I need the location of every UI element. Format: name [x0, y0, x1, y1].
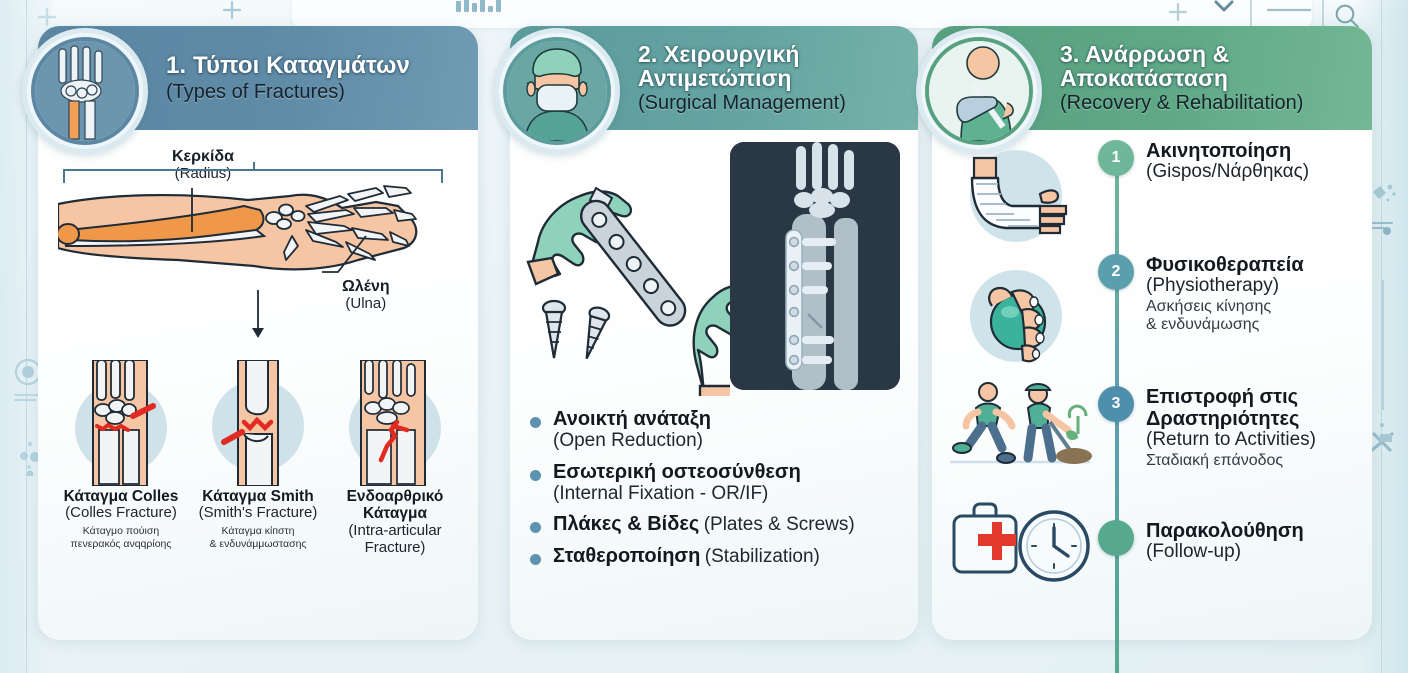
rail-divider — [1322, 0, 1324, 26]
wrist-plate-xray-icon — [730, 142, 900, 390]
step4-english: (Follow-up) — [1146, 542, 1358, 563]
gloved-hands-plate-screws-icon — [524, 146, 730, 396]
recovery-timeline: 1 Ακινητοποίηση (Gispos/Νάρθηκας) 2 Φυσι… — [1096, 134, 1358, 673]
bullet-internal-fixation: Εσωτερική οστεοσύνθεση (Internal Fixatio… — [530, 461, 904, 505]
rehab-icon-column — [946, 134, 1096, 673]
fracture-colles-english: (Colles Fracture) — [56, 505, 186, 522]
fracture-smith-note: Κάταγμα κίпστη & ενδυνάμμωστασης — [193, 525, 323, 550]
panel2-body: Ανοικτή ανάταξη (Open Reduction) Εσωτερι… — [510, 130, 918, 640]
panel1-title: 1. Τύποι Καταγμάτων — [166, 53, 410, 78]
timeline-step-3: 3 Επιστροφή στις Δραστηριότητες (Return … — [1096, 386, 1358, 470]
panel1-body: Κερκίδα (Radius) Ωλένη (Ulna) — [38, 130, 478, 640]
step2-english: (Physiotherapy) — [1146, 276, 1358, 297]
bar-chart-icon — [456, 0, 501, 12]
panel2-subtitle: (Surgical Management) — [638, 93, 846, 114]
forearm-anatomy-figure: Κερκίδα (Radius) Ωλένη (Ulna) — [52, 140, 464, 354]
bullet-dot-icon — [530, 554, 541, 565]
panel-surgical-management: 2. Χειρουργική Αντιμετώπιση (Surgical Ma… — [510, 26, 918, 640]
bullet-dot-icon — [530, 522, 541, 533]
panel2-header: 2. Χειρουργική Αντιμετώπιση (Surgical Ma… — [510, 26, 918, 130]
panel1-title-block: 1. Τύποι Καταγμάτων (Types of Fractures) — [166, 53, 410, 103]
panel2-title-line1: 2. Χειρουργική — [638, 42, 846, 66]
fracture-smith-greek: Κάταγμα Smith — [193, 488, 323, 505]
fracture-intra-articular: Ενδοαρθρικό Κάταγμα (Intra-articular Fra… — [330, 360, 460, 556]
infographic-board: 1. Τύποι Καταγμάτων (Types of Fractures) — [38, 26, 1372, 646]
timeline-step-1: 1 Ακινητοποίηση (Gispos/Νάρθηκας) — [1096, 140, 1358, 183]
plus-icon — [1386, 10, 1388, 12]
plus-icon — [36, 6, 58, 28]
panel-recovery-rehabilitation: 3. Ανάρρωση & Αποκατάσταση (Recovery & R… — [932, 26, 1372, 640]
fracture-colles: Κάταγμα Colles (Colles Fracture) Κάταγμο… — [56, 360, 186, 556]
first-aid-clock-icon — [946, 494, 1096, 612]
fracture-intra-english: (Intra-articular Fracture) — [330, 523, 460, 557]
arrow-down-to-types — [242, 290, 282, 352]
surgical-bullet-list: Ανοικτή ανάταξη (Open Reduction) Εσωτερι… — [524, 408, 904, 567]
step1-english: (Gispos/Νάρθηκας) — [1146, 162, 1358, 183]
timeline-node-1: 1 — [1098, 140, 1134, 176]
step3-note: Σταδιακή επάνοδος — [1146, 452, 1358, 470]
timeline-node-4 — [1098, 520, 1134, 556]
intra-articular-fracture-icon — [330, 360, 460, 488]
step1-greek: Ακινητοποίηση — [1146, 140, 1358, 162]
panel2-title-line2: Αντιμετώπιση — [638, 66, 846, 90]
leader-line-radius — [164, 188, 224, 234]
timeline-node-3: 3 — [1098, 386, 1134, 422]
panel3-subtitle: (Recovery & Rehabilitation) — [1060, 93, 1303, 114]
top-ambient-card — [292, 0, 1312, 28]
bullet-dot-icon — [530, 417, 541, 428]
bullet-open-reduction: Ανοικτή ανάταξη (Open Reduction) — [530, 408, 904, 452]
timeline-step-4: Παρακολούθηση (Follow-up) — [1096, 520, 1358, 563]
step4-greek: Παρακολούθηση — [1146, 520, 1358, 542]
step2-note: Ασκήσεις κίνησης & ενδυνάμωσης — [1146, 298, 1358, 334]
plus-icon — [222, 0, 242, 20]
panel3-title-line1: 3. Ανάρρωση & — [1060, 42, 1303, 66]
panel1-header: 1. Τύποι Καταγμάτων (Types of Fractures) — [38, 26, 478, 130]
panel2-title-block: 2. Χειρουργική Αντιμετώπιση (Surgical Ma… — [638, 42, 846, 115]
rail-divider-right — [1381, 0, 1382, 673]
timeline-node-2: 2 — [1098, 254, 1134, 290]
surgical-illustration — [524, 140, 904, 398]
panel3-header: 3. Ανάρρωση & Αποκατάσταση (Recovery & R… — [932, 26, 1372, 130]
fracture-intra-greek: Ενδοαρθρικό Κάταγμα — [330, 488, 460, 523]
fracture-colles-note: Κάταγμο πούιση πενερακός ανqqρίοης — [56, 525, 186, 550]
rail-divider — [1382, 280, 1384, 410]
colles-fracture-icon — [56, 360, 186, 488]
timeline-step-2: 2 Φυσικοθεραπεία (Physiotherapy) Ασκήσει… — [1096, 254, 1358, 334]
step3-english: (Return to Activities) — [1146, 430, 1358, 451]
fracture-type-list: Κάταγμα Colles (Colles Fracture) Κάταγμο… — [52, 360, 464, 556]
panel3-body: 1 Ακινητοποίηση (Gispos/Νάρθηκας) 2 Φυσι… — [932, 130, 1372, 673]
bullet-dot-icon — [530, 470, 541, 481]
panel-types-of-fractures: 1. Τύποι Καταγμάτων (Types of Fractures) — [38, 26, 478, 640]
fracture-colles-greek: Κάταγμα Colles — [56, 488, 186, 505]
running-gardening-icon — [946, 376, 1096, 494]
panel1-subtitle: (Types of Fractures) — [166, 82, 410, 103]
step2-greek: Φυσικοθεραπεία — [1146, 254, 1358, 276]
bracket-connector — [58, 162, 448, 184]
fracture-smith: Κάταγμα Smith (Smith's Fracture) Κάταγμα… — [193, 360, 323, 556]
panel3-title-block: 3. Ανάρρωση & Αποκατάσταση (Recovery & R… — [1060, 42, 1303, 115]
cast-arm-icon — [946, 140, 1096, 258]
fracture-smith-english: (Smith's Fracture) — [193, 505, 323, 522]
step3-greek: Επιστροφή στις Δραστηριότητες — [1146, 386, 1358, 430]
leader-line-ulna — [320, 232, 390, 284]
bullet-stabilization: Σταθεροποίηση (Stabilization) — [530, 545, 904, 567]
smith-fracture-icon — [193, 360, 323, 488]
stress-ball-hand-icon — [946, 258, 1096, 376]
bullet-plates-screws: Πλάκες & Βίδες (Plates & Screws) — [530, 513, 904, 535]
panel3-title-line2: Αποκατάσταση — [1060, 66, 1303, 90]
